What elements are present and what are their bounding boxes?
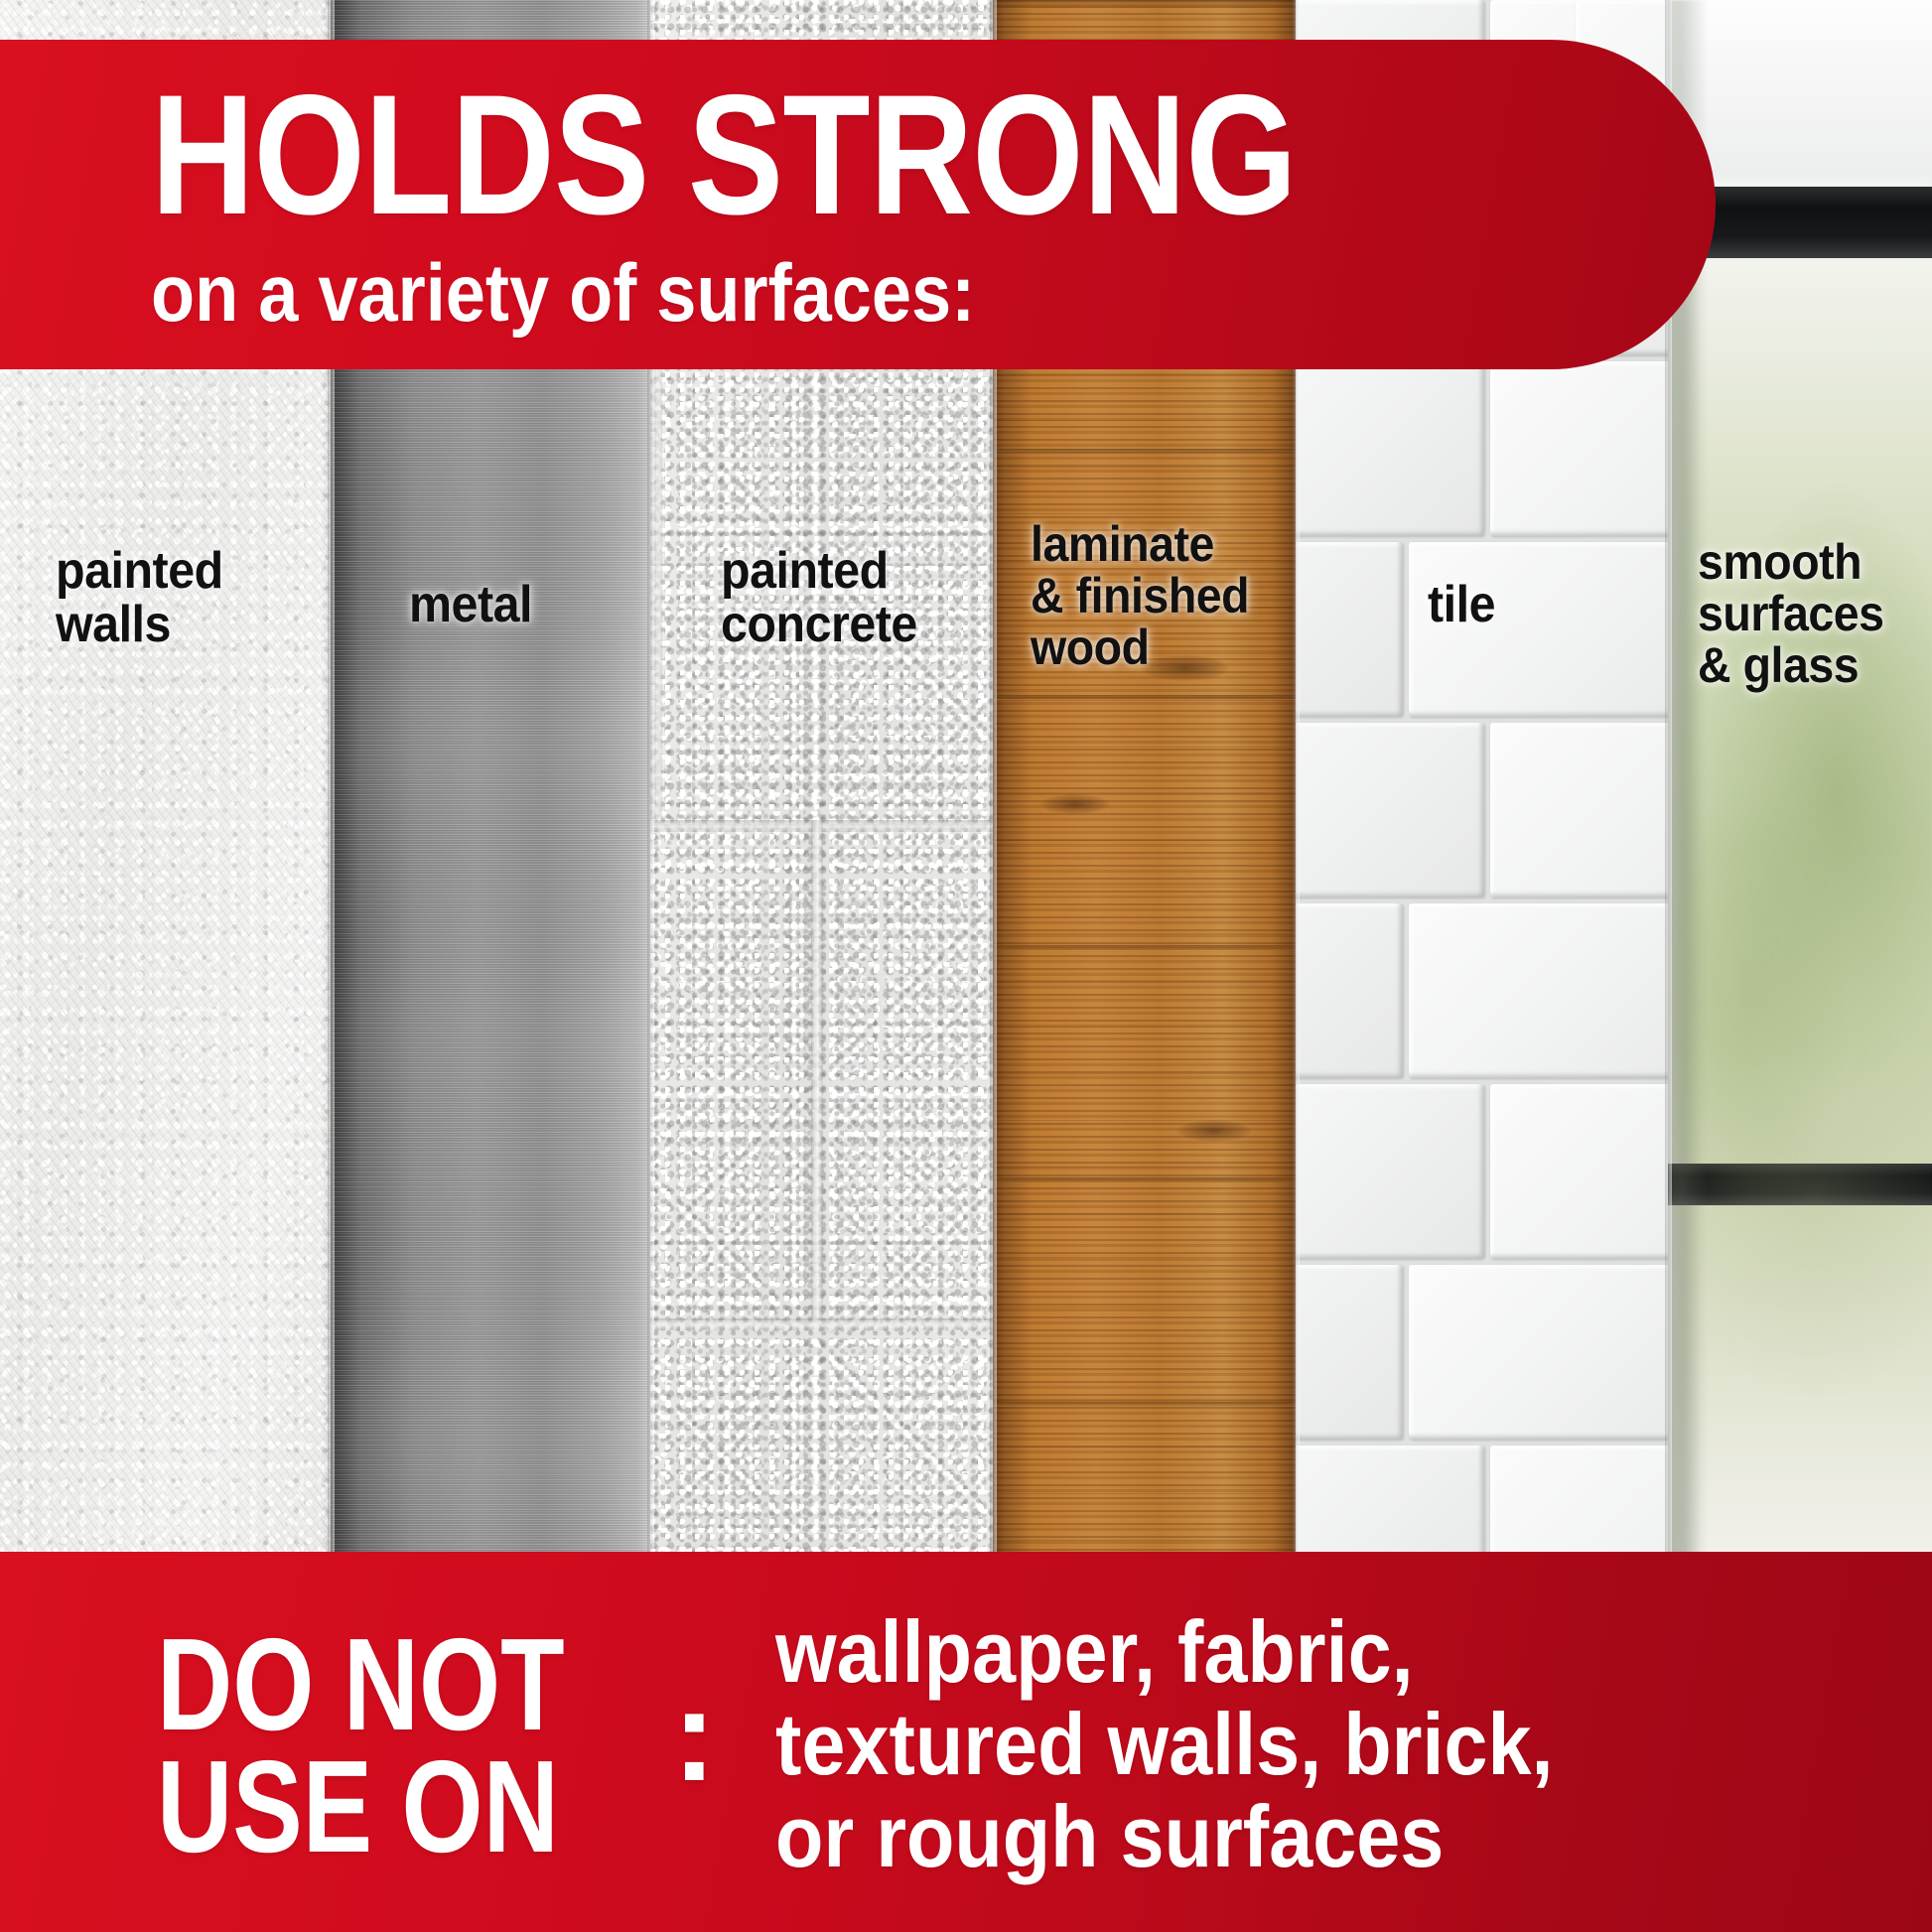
wood-plank-seam bbox=[993, 695, 1296, 700]
headline-holds-strong: HOLDS STRONG bbox=[151, 74, 1465, 236]
label-tile: tile bbox=[1428, 578, 1495, 631]
tile-unit bbox=[1296, 1084, 1484, 1259]
tile-unit bbox=[1490, 361, 1668, 536]
label-painted-walls: painted walls bbox=[56, 544, 223, 651]
exclusion-item: textured walls, brick, bbox=[775, 1698, 1553, 1790]
tile-unit bbox=[1490, 1084, 1668, 1259]
infographic-root: HOLDS STRONG on a variety of surfaces: p… bbox=[0, 0, 1932, 1932]
do-not-use-banner: DO NOT USE ON : wallpaper, fabric, textu… bbox=[0, 1552, 1932, 1932]
label-smooth-glass: smooth surfaces & glass bbox=[1698, 536, 1884, 691]
label-laminate-wood: laminate & finished wood bbox=[1031, 518, 1249, 673]
tile-unit bbox=[1296, 1265, 1403, 1440]
tile-unit bbox=[1296, 723, 1484, 897]
window-frame-bar bbox=[1668, 1164, 1932, 1205]
concrete-mortar-joint bbox=[811, 820, 823, 1318]
do-not-line-1: DO NOT bbox=[157, 1624, 565, 1746]
wood-knot bbox=[1040, 794, 1110, 814]
wood-plank-seam bbox=[993, 1177, 1296, 1182]
wood-knot bbox=[1177, 1120, 1251, 1142]
tile-unit bbox=[1409, 903, 1668, 1078]
tile-unit bbox=[1296, 903, 1403, 1078]
tile-unit bbox=[1490, 723, 1668, 897]
wood-plank-seam bbox=[993, 449, 1296, 454]
tile-unit bbox=[1296, 542, 1403, 717]
colon-separator: : bbox=[672, 1670, 716, 1801]
do-not-line-2: USE ON bbox=[157, 1746, 565, 1868]
tile-unit bbox=[1296, 361, 1484, 536]
exclusion-item: or rough surfaces bbox=[775, 1790, 1553, 1882]
exclusion-list: wallpaper, fabric, textured walls, brick… bbox=[775, 1605, 1553, 1883]
tile-unit bbox=[1409, 1265, 1668, 1440]
concrete-mortar-joint bbox=[650, 1318, 993, 1330]
wood-plank-seam bbox=[993, 945, 1296, 950]
holds-strong-banner: HOLDS STRONG on a variety of surfaces: bbox=[0, 40, 1716, 369]
subheadline-surfaces: on a variety of surfaces: bbox=[151, 253, 1528, 335]
wood-plank-seam bbox=[993, 1402, 1296, 1407]
do-not-use-on-heading: DO NOT USE ON bbox=[157, 1624, 565, 1868]
label-metal: metal bbox=[409, 578, 532, 631]
exclusion-item: wallpaper, fabric, bbox=[775, 1605, 1553, 1698]
label-painted-concrete: painted concrete bbox=[721, 544, 917, 651]
